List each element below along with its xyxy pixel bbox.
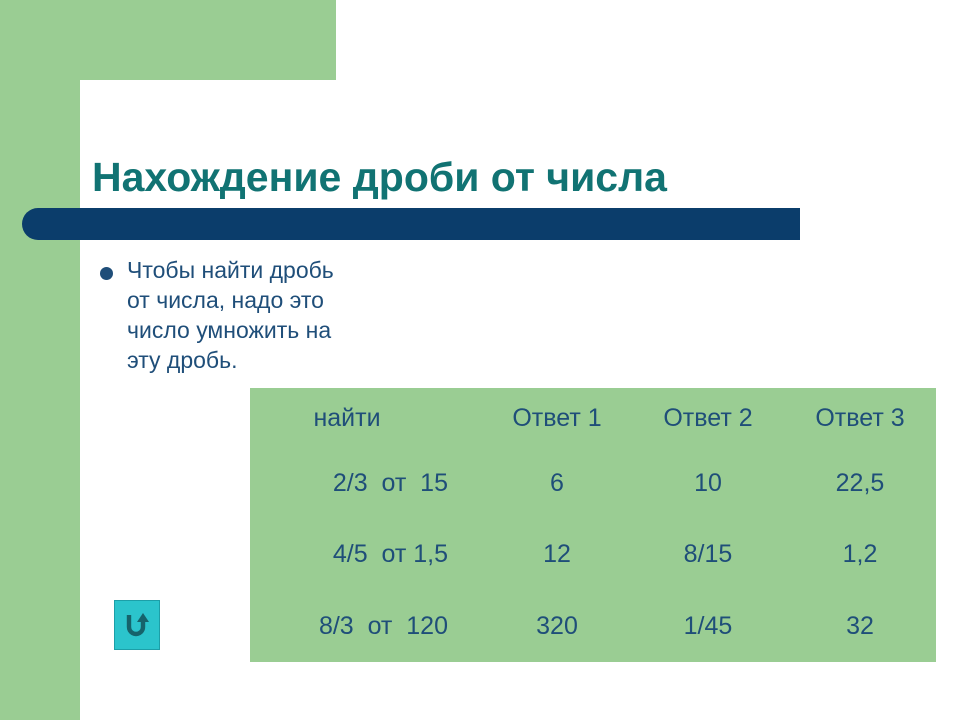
- column-header-answer1: Ответ 1: [482, 388, 632, 448]
- cell-expression: 2/3 от 15: [250, 448, 482, 519]
- cell-answer3[interactable]: 32: [784, 591, 936, 662]
- presentation-slide: Нахождение дроби от числа Чтобы найти др…: [0, 0, 960, 720]
- cell-answer1[interactable]: 320: [482, 591, 632, 662]
- answers-table: найти Ответ 1 Ответ 2 Ответ 3 2/3 от 15 …: [250, 388, 936, 662]
- table-row: 4/5 от 1,5 12 8/15 1,2: [250, 519, 936, 590]
- green-left-strip: [0, 0, 80, 720]
- cell-answer1[interactable]: 6: [482, 448, 632, 519]
- table-row: 2/3 от 15 6 10 22,5: [250, 448, 936, 519]
- cell-answer1[interactable]: 12: [482, 519, 632, 590]
- cell-answer2[interactable]: 10: [632, 448, 784, 519]
- return-arrow-icon: [124, 610, 150, 640]
- title-underline-bar: [22, 208, 800, 240]
- return-arrow-button[interactable]: [114, 600, 160, 650]
- cell-answer2[interactable]: 8/15: [632, 519, 784, 590]
- bullet-list-item: Чтобы найти дробь от числа, надо это чис…: [100, 255, 350, 375]
- table-header-row: найти Ответ 1 Ответ 2 Ответ 3: [250, 388, 936, 448]
- column-header-answer2: Ответ 2: [632, 388, 784, 448]
- column-header-find: найти: [250, 388, 482, 448]
- cell-answer3[interactable]: 1,2: [784, 519, 936, 590]
- bullet-item-label: Чтобы найти дробь от числа, надо это чис…: [127, 255, 350, 375]
- cell-expression: 8/3 от 120: [250, 591, 482, 662]
- cell-expression: 4/5 от 1,5: [250, 519, 482, 590]
- column-header-answer3: Ответ 3: [784, 388, 936, 448]
- cell-answer3[interactable]: 22,5: [784, 448, 936, 519]
- cell-answer2[interactable]: 1/45: [632, 591, 784, 662]
- table-row: 8/3 от 120 320 1/45 32: [250, 591, 936, 662]
- bullet-dot-icon: [100, 267, 113, 280]
- page-title: Нахождение дроби от числа: [92, 153, 922, 201]
